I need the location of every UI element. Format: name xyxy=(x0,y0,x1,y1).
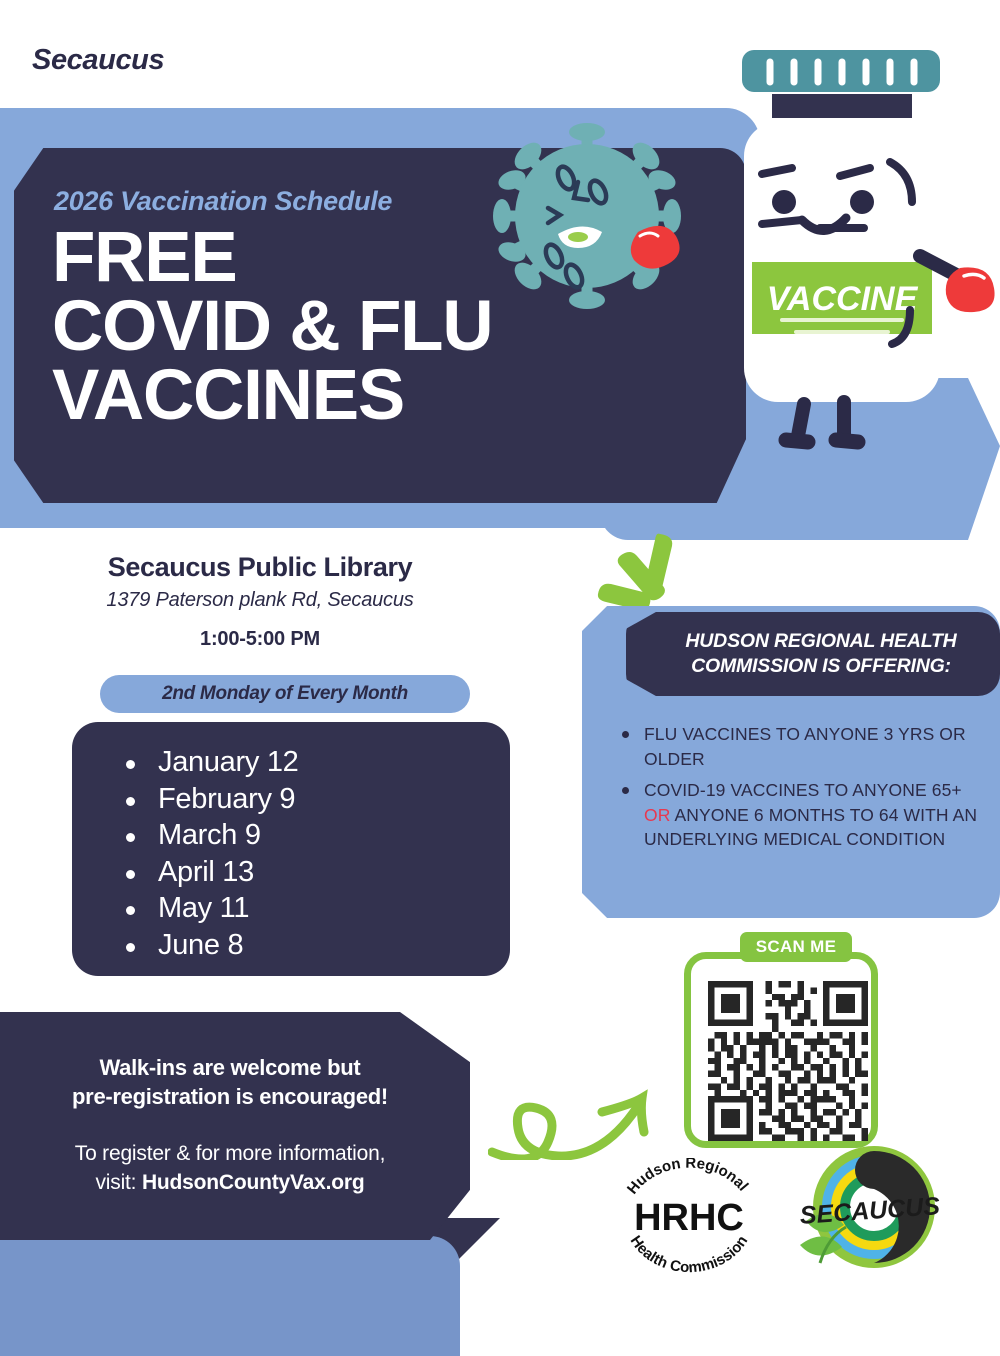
poster-canvas: Secaucus 2026 Vaccination Schedule FREE … xyxy=(0,0,1000,1294)
boxing-glove-icon xyxy=(946,267,995,312)
dates-list: January 12 February 9 March 9 April 13 M… xyxy=(72,722,510,963)
venue-name: Secaucus Public Library xyxy=(0,552,520,583)
list-item: March 9 xyxy=(124,817,510,854)
svg-text:Hudson Regional: Hudson Regional xyxy=(624,1158,752,1198)
qr-code-frame[interactable] xyxy=(684,952,878,1148)
qr-code-icon[interactable] xyxy=(705,981,871,1141)
hero-title-line-2: COVID & FLU xyxy=(52,293,492,362)
list-item: FLU VACCINES TO ANYONE 3 YRS OR OLDER xyxy=(620,722,980,772)
hrhc-bottom-arc-text: Health Commission xyxy=(627,1233,752,1276)
vaccine-bottle-character: VACCINE xyxy=(724,44,1000,464)
list-item: April 13 xyxy=(124,854,510,891)
boxing-glove-icon xyxy=(631,226,680,269)
offering-heading-line-1: HUDSON REGIONAL HEALTH xyxy=(685,630,956,652)
venue-address: 1379 Paterson plank Rd, Secaucus xyxy=(0,589,520,612)
venue-block: Secaucus Public Library 1379 Paterson pl… xyxy=(0,552,520,651)
offering-item-text: COVID-19 VACCINES TO ANYONE 65+ xyxy=(644,780,962,800)
list-item: January 12 xyxy=(124,744,510,781)
list-item: February 9 xyxy=(124,781,510,818)
offering-item-highlight: OR xyxy=(644,805,670,825)
offering-list: FLU VACCINES TO ANYONE 3 YRS OR OLDER CO… xyxy=(620,722,980,858)
offering-heading-line-2: COMMISSION IS OFFERING: xyxy=(691,655,951,677)
registration-body-line-1: To register & for more information, xyxy=(75,1142,385,1165)
registration-headline: Walk-ins are welcome but pre-registratio… xyxy=(0,1053,460,1112)
hero-title: FREE COVID & FLU VACCINES xyxy=(52,224,492,431)
background-blue-bottom-bar xyxy=(0,1236,460,1356)
page-title: Secaucus xyxy=(32,44,164,77)
bottle-label-text: VACCINE xyxy=(767,280,919,318)
offering-item-text-continued: ANYONE 6 MONTHS TO 64 WITH AN UNDERLYING… xyxy=(644,805,977,850)
offering-heading-banner: HUDSON REGIONAL HEALTH COMMISSION IS OFF… xyxy=(626,612,1000,696)
svg-text:Health Commission: Health Commission xyxy=(627,1233,752,1276)
covid-virus-character xyxy=(462,96,712,346)
hero-eyebrow: 2026 Vaccination Schedule xyxy=(54,186,392,217)
cadence-badge: 2nd Monday of Every Month xyxy=(100,675,470,713)
registration-headline-line-2: pre-registration is encouraged! xyxy=(72,1084,388,1109)
registration-website-link[interactable]: HudsonCountyVax.org xyxy=(142,1171,365,1194)
curly-arrow-icon xyxy=(488,1040,688,1160)
offering-heading-text: HUDSON REGIONAL HEALTH COMMISSION IS OFF… xyxy=(669,629,956,679)
registration-headline-line-1: Walk-ins are welcome but xyxy=(100,1055,361,1080)
hrhc-acronym-text: HRHC xyxy=(634,1197,744,1239)
dates-card: January 12 February 9 March 9 April 13 M… xyxy=(72,722,510,976)
registration-visit-prefix: visit: xyxy=(96,1171,142,1194)
list-item: May 11 xyxy=(124,890,510,927)
hero-title-line-1: FREE xyxy=(52,224,492,293)
venue-hours: 1:00-5:00 PM xyxy=(0,628,520,651)
hrhc-logo: Hudson Regional HRHC Health Commission xyxy=(610,1158,768,1276)
registration-body: To register & for more information, visi… xyxy=(0,1140,460,1198)
scan-me-badge: SCAN ME xyxy=(740,932,852,962)
secaucus-logo: SECAUCUS xyxy=(796,1143,946,1275)
hrhc-top-arc-text: Hudson Regional xyxy=(624,1158,752,1198)
hero-title-line-3: VACCINES xyxy=(52,362,492,431)
list-item: June 8 xyxy=(124,927,510,964)
offering-item-text: FLU VACCINES TO ANYONE 3 YRS OR OLDER xyxy=(644,724,966,769)
registration-card xyxy=(0,1012,470,1240)
list-item: COVID-19 VACCINES TO ANYONE 65+ OR ANYON… xyxy=(620,778,980,853)
